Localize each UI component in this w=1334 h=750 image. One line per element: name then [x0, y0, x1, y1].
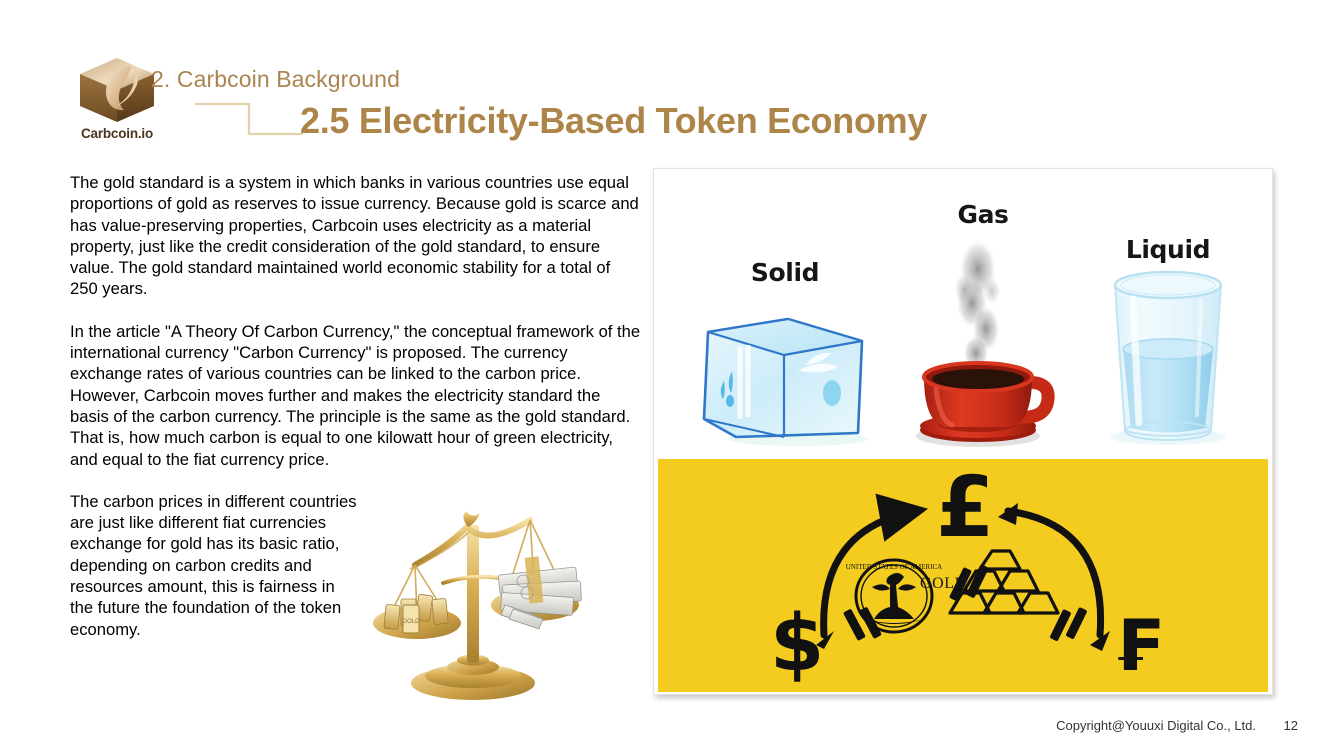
state-liquid-label: Liquid — [1073, 235, 1263, 264]
currency-symbol-franc: ₣ — [1113, 611, 1162, 681]
state-liquid: Liquid — [1073, 173, 1263, 451]
state-gas: Gas — [898, 173, 1068, 451]
gold-standard-diagram: UNITED STATES OF AMERICA GOLD £ $ ₣ — [658, 459, 1268, 692]
currency-symbol-pound: £ — [936, 465, 994, 549]
page-title: 2.5 Electricity-Based Token Economy — [300, 100, 927, 142]
state-gas-label: Gas — [898, 200, 1068, 229]
copyright-text: Copyright@Youuxi Digital Co., Ltd. — [1056, 718, 1256, 733]
ice-cube-icon — [680, 297, 890, 447]
carbcoin-cube-leaf-icon — [74, 56, 160, 126]
states-of-matter-and-gold-standard-panel: Solid — [653, 168, 1273, 695]
svg-text:GOLD: GOLD — [402, 619, 420, 625]
paragraph-carbon-currency: In the article "A Theory Of Carbon Curre… — [70, 321, 642, 470]
logo-wordmark: Carbcoin.io — [66, 126, 168, 141]
svg-text:UNITED STATES OF AMERICA: UNITED STATES OF AMERICA — [846, 563, 942, 571]
state-solid: Solid — [680, 173, 890, 451]
glass-of-water-icon — [1073, 265, 1263, 451]
states-of-matter-row: Solid — [658, 173, 1268, 451]
paragraph-gold-standard: The gold standard is a system in which b… — [70, 172, 642, 300]
slide-footer: Copyright@Youuxi Digital Co., Ltd. 12 — [0, 706, 1334, 750]
paragraph-carbon-prices: The carbon prices in different countries… — [70, 491, 360, 640]
section-label: 2. Carbcoin Background — [151, 66, 400, 93]
gold-label: GOLD — [920, 575, 967, 593]
gold-vs-dollars-balance-scale-figure: GOLD — [355, 487, 620, 702]
state-solid-label: Solid — [680, 258, 890, 287]
decorative-step-line-icon — [193, 98, 305, 140]
steaming-coffee-cup-icon — [898, 231, 1068, 449]
currency-symbol-dollar: $ — [770, 605, 824, 683]
gold-coin-eagle-icon: UNITED STATES OF AMERICA — [846, 560, 942, 632]
slide-header: Carbcoin.io 2. Carbcoin Background 2.5 E… — [0, 0, 1334, 160]
page-number: 12 — [1284, 718, 1298, 733]
